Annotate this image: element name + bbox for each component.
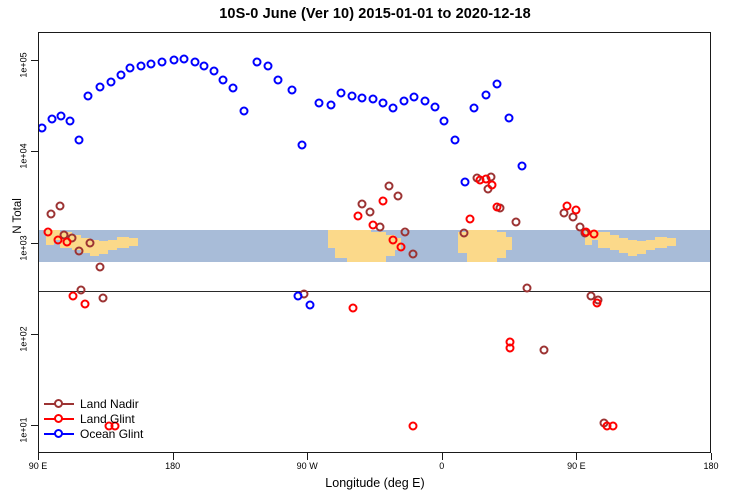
world-map-band — [39, 230, 710, 262]
data-point — [562, 201, 571, 210]
legend-label: Land Glint — [80, 412, 135, 426]
data-point — [263, 61, 272, 70]
legend-circle-icon — [54, 399, 63, 408]
x-tick-mark — [38, 453, 39, 460]
data-point — [54, 235, 63, 244]
data-point — [46, 210, 55, 219]
data-point — [492, 80, 501, 89]
x-tick-label: 180 — [703, 461, 718, 471]
data-point — [349, 304, 358, 313]
data-point — [465, 215, 474, 224]
y-tick-label: 1e+02 — [0, 329, 36, 339]
x-tick-mark — [307, 453, 308, 460]
plot-area — [38, 32, 711, 453]
landmass-shape — [99, 241, 108, 254]
data-point — [48, 114, 57, 123]
legend-label: Land Nadir — [80, 397, 139, 411]
legend-marker-icon — [44, 412, 74, 425]
landmass-shape — [129, 238, 138, 246]
data-point — [571, 206, 580, 215]
data-point — [459, 229, 468, 238]
data-point — [592, 298, 601, 307]
data-point — [293, 291, 302, 300]
y-tick-label: 1e+04 — [0, 146, 36, 156]
data-point — [57, 112, 66, 121]
chart-legend: Land NadirLand GlintOcean Glint — [44, 396, 143, 441]
y-tick-label-text: 1e+03 — [18, 235, 28, 260]
data-point — [253, 57, 262, 66]
data-point — [43, 227, 52, 236]
legend-item[interactable]: Ocean Glint — [44, 426, 143, 441]
y-tick-label-text: 1e+05 — [18, 52, 28, 77]
data-point — [190, 58, 199, 67]
landmass-shape — [117, 237, 129, 248]
landmass-shape — [506, 237, 512, 250]
data-point — [358, 93, 367, 102]
landmass-shape — [598, 232, 610, 248]
data-point — [147, 59, 156, 68]
data-point — [180, 54, 189, 63]
reference-line — [39, 291, 710, 292]
data-point — [461, 178, 470, 187]
data-point — [368, 220, 377, 229]
data-point — [38, 123, 46, 132]
landmass-shape — [610, 235, 619, 250]
landmass-shape — [655, 237, 667, 248]
data-point — [389, 104, 398, 113]
data-point — [209, 67, 218, 76]
data-point — [393, 192, 402, 201]
data-point — [239, 107, 248, 116]
data-point — [488, 180, 497, 189]
data-point — [75, 136, 84, 145]
data-point — [169, 55, 178, 64]
x-tick-mark — [711, 453, 712, 460]
data-point — [314, 99, 323, 108]
x-tick-label: 0 — [439, 461, 444, 471]
legend-marker-icon — [44, 397, 74, 410]
data-point — [408, 250, 417, 259]
data-point — [326, 100, 335, 109]
data-point — [399, 97, 408, 106]
data-point — [96, 262, 105, 271]
data-point — [440, 116, 449, 125]
data-point — [450, 136, 459, 145]
landmass-shape — [371, 232, 386, 263]
chart-title: 10S-0 June (Ver 10) 2015-01-01 to 2020-1… — [0, 6, 750, 22]
data-point — [69, 291, 78, 300]
x-tick-label: 180 — [165, 461, 180, 471]
data-point — [157, 57, 166, 66]
data-point — [96, 82, 105, 91]
data-point — [378, 99, 387, 108]
landmass-shape — [328, 230, 335, 248]
data-point — [589, 229, 598, 238]
data-point — [84, 91, 93, 100]
chart-figure: 10S-0 June (Ver 10) 2015-01-01 to 2020-1… — [0, 0, 750, 500]
data-point — [470, 104, 479, 113]
data-point — [199, 61, 208, 70]
data-point — [504, 114, 513, 123]
data-point — [229, 84, 238, 93]
legend-label: Ocean Glint — [80, 427, 143, 441]
x-tick-mark — [576, 453, 577, 460]
data-point — [492, 203, 501, 212]
landmass-shape — [108, 240, 117, 250]
data-point — [512, 218, 521, 227]
data-point — [482, 91, 491, 100]
landmass-shape — [667, 238, 676, 246]
data-point — [396, 242, 405, 251]
data-point — [431, 103, 440, 112]
y-tick-label-text: 1e+02 — [18, 326, 28, 351]
y-tick-label: 1e+03 — [0, 238, 36, 248]
y-tick-label: 1e+01 — [0, 420, 36, 430]
data-point — [408, 422, 417, 431]
landmass-shape — [646, 240, 655, 250]
landmass-shape — [628, 240, 637, 256]
x-tick-label: 90 W — [297, 461, 318, 471]
legend-circle-icon — [54, 414, 63, 423]
x-tick-label: 90 E — [567, 461, 586, 471]
data-point — [81, 299, 90, 308]
data-point — [76, 286, 85, 295]
x-tick-label: 90 E — [29, 461, 48, 471]
data-point — [506, 344, 515, 353]
x-axis-label: Longitude (deg E) — [0, 476, 750, 490]
x-tick-mark — [173, 453, 174, 460]
data-point — [337, 89, 346, 98]
data-point — [126, 64, 135, 73]
data-point — [609, 422, 618, 431]
data-point — [298, 140, 307, 149]
data-point — [287, 85, 296, 94]
landmass-shape — [637, 241, 646, 254]
data-point — [63, 237, 72, 246]
landmass-shape — [467, 230, 497, 262]
data-point — [305, 300, 314, 309]
data-point — [353, 211, 362, 220]
data-point — [365, 208, 374, 217]
data-point — [522, 283, 531, 292]
data-point — [518, 161, 527, 170]
data-point — [75, 247, 84, 256]
data-point — [136, 61, 145, 70]
legend-marker-icon — [44, 427, 74, 440]
data-point — [410, 92, 419, 101]
y-tick-label-text: 1e+01 — [18, 418, 28, 443]
data-point — [117, 70, 126, 79]
data-point — [358, 200, 367, 209]
landmass-shape — [619, 238, 628, 253]
landmass-shape — [497, 232, 506, 258]
data-point — [66, 116, 75, 125]
data-point — [401, 227, 410, 236]
data-point — [384, 182, 393, 191]
legend-circle-icon — [54, 429, 63, 438]
y-tick-label: 1e+05 — [0, 55, 36, 65]
data-point — [378, 197, 387, 206]
data-point — [347, 91, 356, 100]
legend-item[interactable]: Land Glint — [44, 411, 143, 426]
data-point — [540, 346, 549, 355]
y-tick-label-text: 1e+04 — [18, 143, 28, 168]
data-point — [368, 94, 377, 103]
data-point — [85, 238, 94, 247]
landmass-shape — [335, 230, 347, 258]
x-tick-mark — [442, 453, 443, 460]
data-point — [99, 293, 108, 302]
landmass-shape — [347, 230, 371, 262]
data-point — [55, 201, 64, 210]
data-point — [420, 97, 429, 106]
data-point — [106, 78, 115, 87]
data-point — [274, 75, 283, 84]
legend-item[interactable]: Land Nadir — [44, 396, 143, 411]
data-point — [218, 75, 227, 84]
